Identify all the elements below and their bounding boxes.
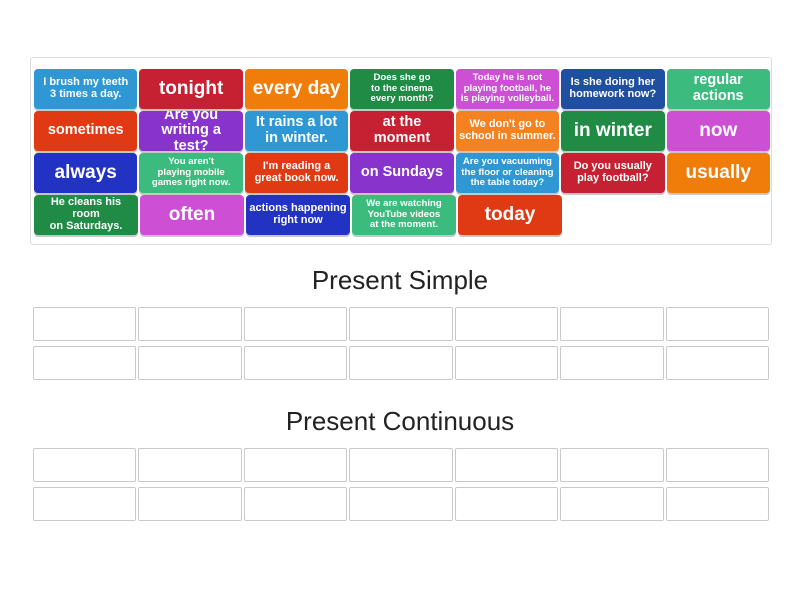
word-tile[interactable]: on Sundays	[350, 153, 453, 193]
drop-zone[interactable]	[560, 448, 663, 482]
word-tile-label: today	[461, 205, 559, 226]
word-tile[interactable]: sometimes	[34, 111, 137, 151]
word-tile[interactable]: today	[458, 195, 562, 235]
drop-zone[interactable]	[138, 487, 241, 521]
drop-zone[interactable]	[666, 487, 769, 521]
drop-zone[interactable]	[33, 487, 136, 521]
drop-zone[interactable]	[349, 346, 452, 380]
word-tile[interactable]: We don't go to school in summer.	[456, 111, 559, 151]
word-tile-label: Today he is not playing football, he is …	[459, 73, 556, 104]
word-tile-label: in winter	[564, 121, 661, 142]
word-tile[interactable]: usually	[667, 153, 770, 193]
word-tile-label: regular actions	[670, 73, 767, 104]
word-tile-label: He cleans his room on Saturdays.	[37, 197, 135, 233]
drop-zone[interactable]	[560, 346, 663, 380]
drop-zone[interactable]	[349, 307, 452, 341]
drop-row	[33, 448, 769, 482]
drop-zone[interactable]	[455, 307, 558, 341]
drop-zone[interactable]	[244, 307, 347, 341]
word-tile[interactable]: We are watching YouTube videos at the mo…	[352, 195, 456, 235]
drop-zone[interactable]	[455, 448, 558, 482]
word-tile-label: every day	[248, 79, 345, 100]
word-tile-label: always	[37, 163, 134, 184]
drop-zone[interactable]	[244, 346, 347, 380]
word-tile[interactable]: often	[140, 195, 244, 235]
drop-zone[interactable]	[138, 346, 241, 380]
word-tile-label: I brush my teeth 3 times a day.	[37, 77, 134, 101]
word-tile-label: Are you vacuuming the floor or cleaning …	[459, 157, 556, 188]
word-tile-label: We don't go to school in summer.	[459, 119, 556, 143]
drop-zone[interactable]	[138, 307, 241, 341]
word-tile[interactable]: Today he is not playing football, he is …	[456, 69, 559, 109]
word-tile[interactable]: Are you writing a test?	[139, 111, 242, 151]
drop-zones-present-simple	[33, 307, 769, 385]
tile-row: I brush my teeth 3 times a day.tonightev…	[34, 69, 770, 109]
drop-zone[interactable]	[33, 346, 136, 380]
drop-zone[interactable]	[349, 448, 452, 482]
word-tile[interactable]: now	[667, 111, 770, 151]
drop-zone[interactable]	[244, 448, 347, 482]
drop-zone[interactable]	[666, 346, 769, 380]
word-tile-label: We are watching YouTube videos at the mo…	[355, 199, 453, 230]
drop-zone[interactable]	[666, 448, 769, 482]
word-tile-label: now	[670, 121, 767, 142]
word-tile-label: on Sundays	[353, 165, 450, 181]
tile-row: sometimesAre you writing a test?It rains…	[34, 111, 770, 151]
tile-row: He cleans his room on Saturdays.oftenact…	[34, 195, 770, 235]
word-tile[interactable]: I'm reading a great book now.	[245, 153, 348, 193]
word-tile[interactable]: It rains a lot in winter.	[245, 111, 348, 151]
word-tile[interactable]: every day	[245, 69, 348, 109]
word-tile-label: I'm reading a great book now.	[248, 161, 345, 185]
drop-row	[33, 307, 769, 341]
word-tile[interactable]: actions happening right now	[246, 195, 350, 235]
drop-row	[33, 487, 769, 521]
drop-zone[interactable]	[349, 487, 452, 521]
word-tile-label: Do you usually play football?	[564, 161, 661, 185]
word-tile-label: Are you writing a test?	[142, 111, 239, 151]
word-tile[interactable]: Is she doing her homework now?	[561, 69, 664, 109]
word-tile[interactable]: in winter	[561, 111, 664, 151]
word-tile[interactable]: at the moment	[350, 111, 453, 151]
tile-row: alwaysYou aren't playing mobile games ri…	[34, 153, 770, 193]
word-tile[interactable]: I brush my teeth 3 times a day.	[34, 69, 137, 109]
word-tile-label: Is she doing her homework now?	[564, 77, 661, 101]
drop-zone[interactable]	[560, 307, 663, 341]
word-tile[interactable]: Do you usually play football?	[561, 153, 664, 193]
word-tile-label: tonight	[142, 79, 239, 100]
word-tile[interactable]: Does she go to the cinema every month?	[350, 69, 453, 109]
drop-zones-present-continuous	[33, 448, 769, 526]
activity-page: I brush my teeth 3 times a day.tonightev…	[0, 0, 800, 600]
drop-zone[interactable]	[33, 448, 136, 482]
group-heading-present-continuous: Present Continuous	[0, 406, 800, 437]
drop-zone[interactable]	[455, 346, 558, 380]
word-tile[interactable]: regular actions	[667, 69, 770, 109]
drop-zone[interactable]	[33, 307, 136, 341]
drop-row	[33, 346, 769, 380]
drop-zone[interactable]	[455, 487, 558, 521]
word-tile[interactable]: You aren't playing mobile games right no…	[139, 153, 242, 193]
word-tile-label: often	[143, 205, 241, 226]
tile-rows: I brush my teeth 3 times a day.tonightev…	[34, 69, 770, 237]
drop-zone[interactable]	[560, 487, 663, 521]
word-tile-label: actions happening right now	[249, 203, 347, 227]
word-tile-label: at the moment	[353, 115, 450, 146]
drop-zone[interactable]	[138, 448, 241, 482]
word-tile-label: Does she go to the cinema every month?	[353, 73, 450, 104]
word-tile[interactable]: He cleans his room on Saturdays.	[34, 195, 138, 235]
word-tile-label: It rains a lot in winter.	[248, 115, 345, 146]
drop-zone[interactable]	[244, 487, 347, 521]
word-tile-pool: I brush my teeth 3 times a day.tonightev…	[30, 57, 772, 245]
word-tile[interactable]: tonight	[139, 69, 242, 109]
drop-zone[interactable]	[666, 307, 769, 341]
word-tile-label: usually	[670, 163, 767, 184]
group-heading-present-simple: Present Simple	[0, 265, 800, 296]
word-tile-label: sometimes	[37, 123, 134, 139]
word-tile-label: You aren't playing mobile games right no…	[142, 157, 239, 188]
word-tile[interactable]: Are you vacuuming the floor or cleaning …	[456, 153, 559, 193]
word-tile[interactable]: always	[34, 153, 137, 193]
